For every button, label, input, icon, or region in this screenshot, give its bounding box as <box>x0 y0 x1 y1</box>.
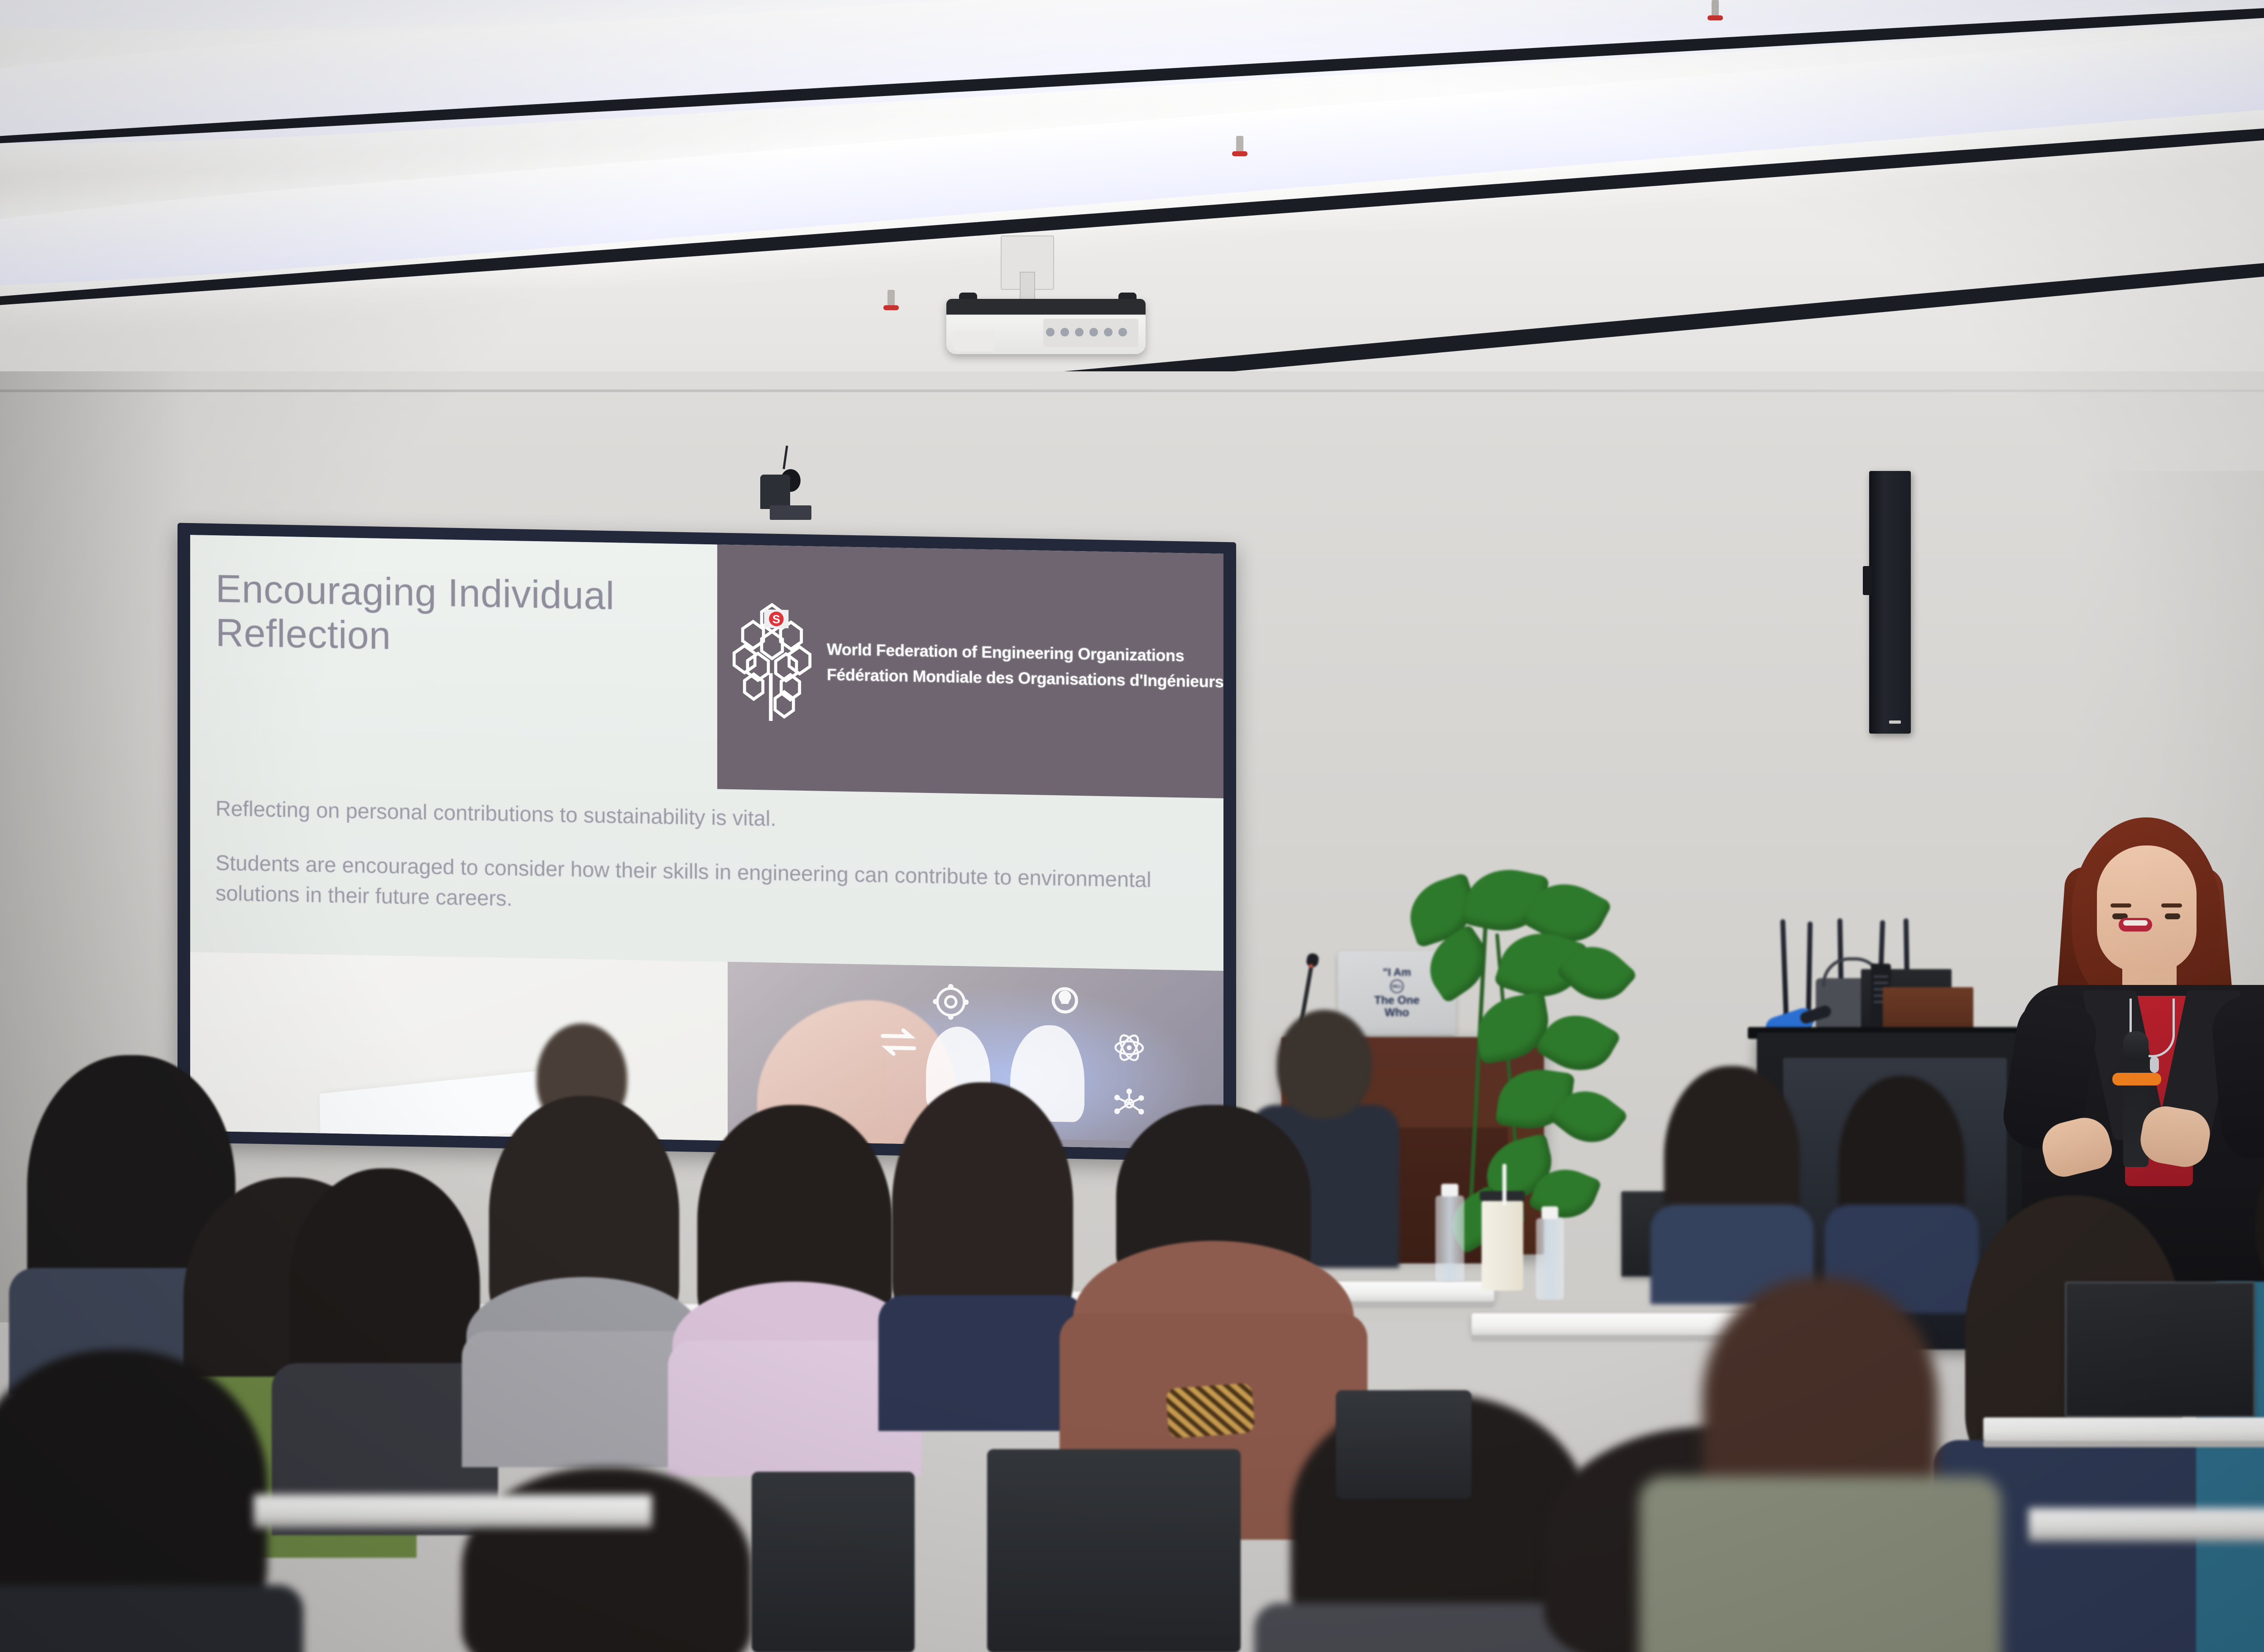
presenter-face <box>2097 845 2197 972</box>
laptop[interactable] <box>2065 1282 2255 1417</box>
lightbulb-refresh-icon <box>1040 982 1090 1018</box>
drinking-straw <box>1502 1164 1506 1205</box>
audience-member <box>1648 1277 1992 1652</box>
microphone-orange-band <box>2112 1073 2161 1085</box>
slide-title-line2: Reflection <box>216 611 391 658</box>
wfeo-name-block: World Federation of Engineering Organiza… <box>820 637 1223 695</box>
slide-body-text: Reflecting on personal contributions to … <box>190 779 1223 951</box>
wall-speaker <box>1869 471 1911 734</box>
wfeo-logo-banner: S World Federation of Engineering Organi… <box>717 544 1223 798</box>
sprinkler-head <box>1712 0 1719 20</box>
slide-paragraph-1: Reflecting on personal contributions to … <box>216 793 1196 841</box>
presentation-slide: Encouraging Individual Reflection <box>190 535 1223 1150</box>
slide-paragraph-2: Students are encouraged to consider how … <box>216 848 1196 926</box>
gear-icon <box>926 984 976 1020</box>
lecture-hall-photo: Encouraging Individual Reflection <box>0 0 2264 1652</box>
transfer-arrows-icon <box>866 1022 931 1062</box>
water-bottle <box>1435 1196 1464 1282</box>
tumbler <box>1482 1200 1523 1291</box>
desk <box>1983 1417 2264 1441</box>
sprinkler-head <box>1236 136 1243 156</box>
desk <box>2029 1508 2264 1535</box>
leopard-print-bow <box>1166 1383 1255 1439</box>
audience-member <box>1657 1055 1807 1291</box>
projection-screen-surface: Encouraging Individual Reflection <box>190 535 1223 1150</box>
chair <box>987 1449 1241 1652</box>
camera-mount <box>770 505 811 520</box>
camera-body <box>760 475 790 509</box>
projector-ports <box>1043 319 1138 347</box>
svg-text:S: S <box>772 613 780 626</box>
wall-ceiling-edge <box>0 389 2264 392</box>
chair <box>752 1472 915 1652</box>
chair <box>1336 1390 1472 1499</box>
slide-title-line1: Encouraging Individual <box>216 567 614 618</box>
sprinkler-head <box>887 290 895 310</box>
ptz-camera <box>770 466 811 520</box>
projector-lens <box>953 331 994 351</box>
audience-member <box>480 1096 688 1440</box>
audience-member <box>688 1105 901 1440</box>
audience-member <box>887 1082 1078 1408</box>
water-bottle <box>1536 1218 1564 1300</box>
ceiling-projector <box>946 299 1146 354</box>
slide-header: Encouraging Individual Reflection <box>190 535 1223 798</box>
wfeo-hexagon-tree-logo: S <box>724 599 820 723</box>
projection-screen-frame: Encouraging Individual Reflection <box>177 523 1236 1162</box>
audience-member <box>0 1349 290 1652</box>
presenter-mouth <box>2119 918 2152 932</box>
wooden-box <box>1883 987 1973 1032</box>
slide-title-block: Encouraging Individual Reflection <box>190 535 717 789</box>
desk <box>254 1494 652 1522</box>
atom-icon <box>1104 1031 1154 1064</box>
